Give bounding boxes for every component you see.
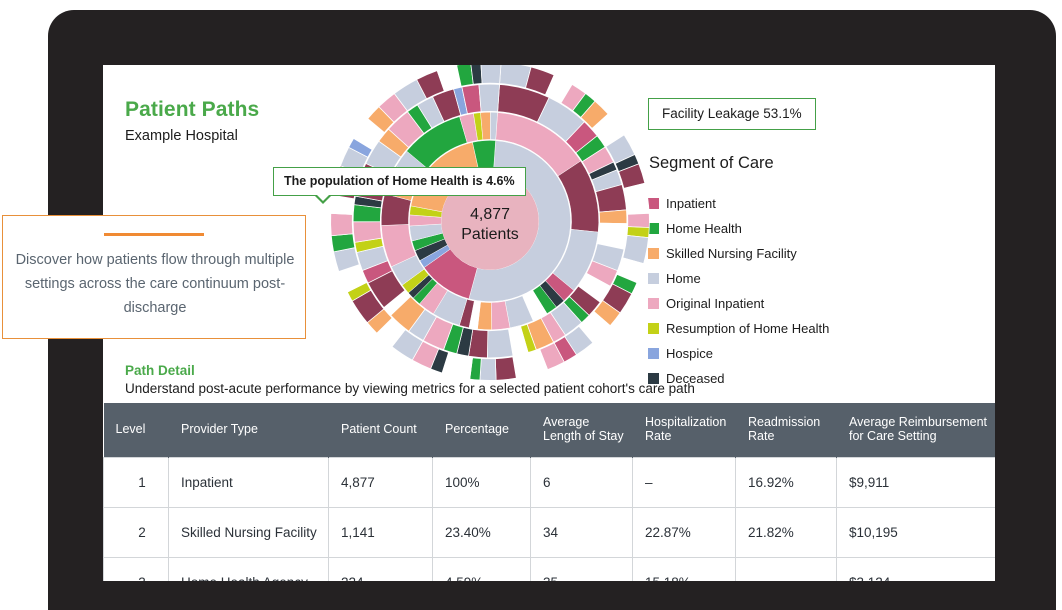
legend-item-label: Inpatient bbox=[666, 196, 716, 211]
column-header-label-line1: Average Reimbursement bbox=[849, 415, 987, 429]
column-header-percentage[interactable]: Percentage bbox=[433, 403, 531, 457]
sunburst-segment[interactable] bbox=[495, 357, 516, 380]
sunburst-segment[interactable] bbox=[487, 329, 513, 358]
table-header-row: Level Provider Type Patient Count Percen… bbox=[104, 403, 996, 457]
sunburst-segment[interactable] bbox=[624, 183, 649, 214]
column-header-level[interactable]: Level bbox=[104, 403, 169, 457]
annotation-callout: Discover how patients flow through multi… bbox=[2, 215, 306, 339]
table-cell-avg-reimbursement: $9,911 bbox=[837, 457, 996, 507]
path-detail-table: Level Provider Type Patient Count Percen… bbox=[103, 403, 995, 581]
legend-item-inpatient[interactable]: Inpatient bbox=[648, 191, 805, 216]
table-cell-provider-type: Skilled Nursing Facility bbox=[169, 507, 329, 557]
callout-accent-rule bbox=[104, 233, 204, 236]
sunburst-segment[interactable] bbox=[628, 213, 650, 227]
table-cell-percentage: 4.59% bbox=[433, 557, 531, 581]
legend-item-hospice[interactable]: Hospice bbox=[648, 341, 834, 366]
path-detail-description: Understand post-acute performance by vie… bbox=[125, 381, 695, 396]
table-cell-percentage: 23.40% bbox=[433, 507, 531, 557]
table-cell-hospitalization-rate: – bbox=[633, 457, 736, 507]
sunburst-tooltip: The population of Home Health is 4.6% bbox=[273, 167, 526, 196]
table-cell-avg-length-of-stay: 6 bbox=[531, 457, 633, 507]
column-header-label: Provider Type bbox=[181, 422, 258, 436]
table-row[interactable]: 1Inpatient4,877100%6–16.92%$9,911 bbox=[104, 457, 996, 507]
column-header-label-line2: Rate bbox=[748, 429, 774, 443]
table-cell-readmission-rate: 16.92% bbox=[736, 457, 837, 507]
column-header-hospitalization-rate[interactable]: Hospitalization Rate bbox=[633, 403, 736, 457]
legend-item-label: Skilled Nursing Facility bbox=[666, 246, 797, 261]
sunburst-segment[interactable] bbox=[479, 84, 500, 112]
legend-column-left: Inpatient Home Health Skilled Nursing Fa… bbox=[648, 191, 805, 291]
sunburst-svg[interactable]: 4,877 Patients bbox=[325, 65, 655, 386]
legend-item-skilled-nursing-facility[interactable]: Skilled Nursing Facility bbox=[648, 241, 805, 266]
legend-item-label: Home bbox=[666, 271, 701, 286]
table-cell-patient-count: 4,877 bbox=[329, 457, 433, 507]
table-cell-percentage: 100% bbox=[433, 457, 531, 507]
sunburst-center-value: 4,877 bbox=[470, 206, 510, 223]
sunburst-segment[interactable] bbox=[481, 65, 501, 84]
table-cell-avg-length-of-stay: 35 bbox=[531, 557, 633, 581]
sunburst-segment[interactable] bbox=[480, 359, 496, 381]
column-header-provider-type[interactable]: Provider Type bbox=[169, 403, 329, 457]
table-cell-hospitalization-rate: 22.87% bbox=[633, 507, 736, 557]
table-cell-readmission-rate: 21.82% bbox=[736, 507, 837, 557]
table-cell-provider-type: Inpatient bbox=[169, 457, 329, 507]
page-title: Patient Paths bbox=[125, 98, 259, 122]
column-header-label: Level bbox=[116, 422, 146, 436]
legend-column-right: Original Inpatient Resumption of Home He… bbox=[648, 291, 834, 391]
callout-text: Discover how patients flow through multi… bbox=[15, 248, 295, 320]
column-header-label-line1: Readmission bbox=[748, 415, 820, 429]
table-cell-provider-type: Home Health Agency bbox=[169, 557, 329, 581]
facility-leakage-badge[interactable]: Facility Leakage 53.1% bbox=[648, 98, 816, 130]
sunburst-chart[interactable]: 4,877 Patients bbox=[325, 65, 655, 386]
table-row[interactable]: 3Home Health Agency2244.59%3515.18%–$3,1… bbox=[104, 557, 996, 581]
path-detail-title: Path Detail bbox=[125, 363, 195, 378]
column-header-patient-count[interactable]: Patient Count bbox=[329, 403, 433, 457]
table-head: Level Provider Type Patient Count Percen… bbox=[104, 403, 996, 457]
page-subtitle: Example Hospital bbox=[125, 128, 238, 144]
table-body: 1Inpatient4,877100%6–16.92%$9,9112Skille… bbox=[104, 457, 996, 581]
legend-title: Segment of Care bbox=[649, 154, 774, 173]
column-header-average-length-of-stay[interactable]: Average Length of Stay bbox=[531, 403, 633, 457]
table-cell-avg-reimbursement: $3,124 bbox=[837, 557, 996, 581]
table-cell-avg-reimbursement: $10,195 bbox=[837, 507, 996, 557]
column-header-label-line2: for Care Setting bbox=[849, 429, 937, 443]
table-cell-hospitalization-rate: 15.18% bbox=[633, 557, 736, 581]
legend-item-label: Original Inpatient bbox=[666, 296, 764, 311]
column-header-readmission-rate[interactable]: Readmission Rate bbox=[736, 403, 837, 457]
column-header-average-reimbursement[interactable]: Average Reimbursement for Care Setting bbox=[837, 403, 996, 457]
column-header-label-line1: Average bbox=[543, 415, 589, 429]
screenshot-root: Patient Paths Example Hospital Facility … bbox=[0, 0, 1062, 610]
column-header-label-line2: Length of Stay bbox=[543, 429, 624, 443]
column-header-label-line2: Rate bbox=[645, 429, 671, 443]
legend: Inpatient Home Health Skilled Nursing Fa… bbox=[648, 191, 993, 391]
sunburst-center-label: Patients bbox=[461, 226, 519, 243]
table-cell-patient-count: 224 bbox=[329, 557, 433, 581]
table-cell-level: 1 bbox=[104, 457, 169, 507]
table-cell-readmission-rate: – bbox=[736, 557, 837, 581]
legend-item-original-inpatient[interactable]: Original Inpatient bbox=[648, 291, 834, 316]
legend-item-home[interactable]: Home bbox=[648, 266, 805, 291]
table-cell-level: 3 bbox=[104, 557, 169, 581]
sunburst-segment[interactable] bbox=[599, 210, 627, 224]
legend-item-home-health[interactable]: Home Health bbox=[648, 216, 805, 241]
column-header-label-line1: Hospitalization bbox=[645, 415, 726, 429]
table-cell-level: 2 bbox=[104, 507, 169, 557]
sunburst-segment[interactable] bbox=[331, 213, 353, 235]
column-header-label: Patient Count bbox=[341, 422, 417, 436]
table-cell-patient-count: 1,141 bbox=[329, 507, 433, 557]
legend-item-label: Home Health bbox=[666, 221, 742, 236]
legend-item-label: Hospice bbox=[666, 346, 713, 361]
table-cell-avg-length-of-stay: 34 bbox=[531, 507, 633, 557]
table-row[interactable]: 2Skilled Nursing Facility1,14123.40%3422… bbox=[104, 507, 996, 557]
column-header-label: Percentage bbox=[445, 422, 509, 436]
legend-item-label: Resumption of Home Health bbox=[666, 321, 829, 336]
legend-item-resumption-of-home-health[interactable]: Resumption of Home Health bbox=[648, 316, 834, 341]
